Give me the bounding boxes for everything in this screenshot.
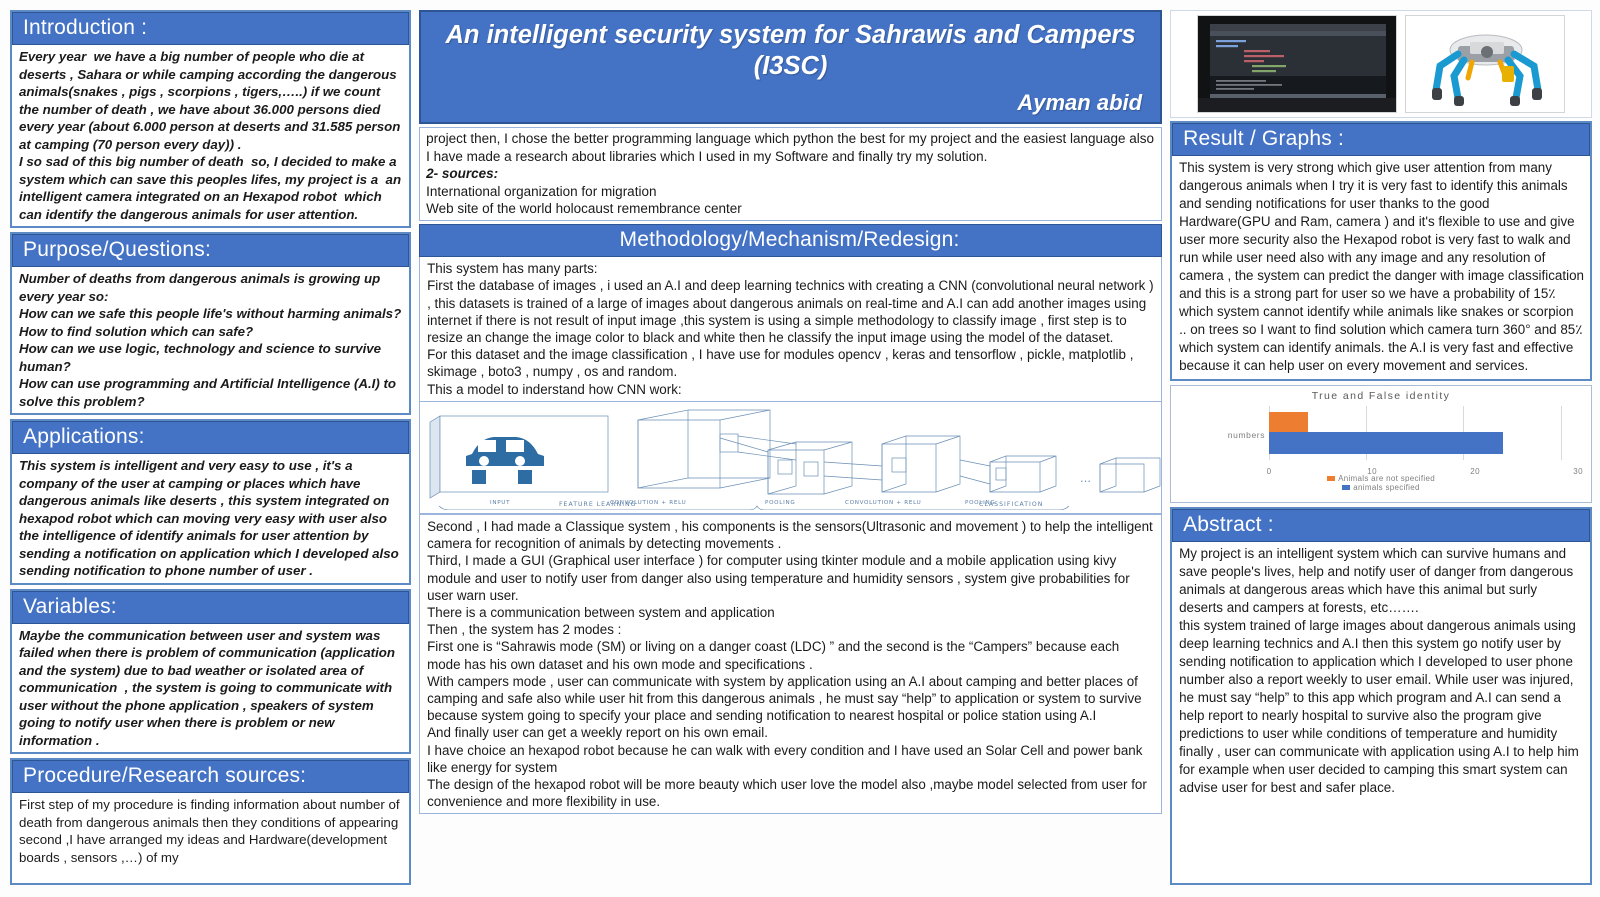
legend-swatch-blue — [1342, 485, 1350, 490]
xtick-30: 30 — [1573, 467, 1583, 476]
left-column: Introduction : Every year we have a big … — [10, 10, 411, 889]
methodology-bottom-text: Second , I had made a Classique system ,… — [419, 514, 1162, 814]
poster-title-block: An intelligent security system for Sahra… — [419, 10, 1162, 124]
chart-title: True and False identity — [1173, 390, 1589, 402]
abstract-heading: Abstract : — [1172, 509, 1590, 542]
xtick-0: 0 — [1267, 467, 1272, 476]
intro-continuation-box: project then, I chose the better program… — [419, 127, 1162, 221]
section-abstract: Abstract : My project is an intelligent … — [1170, 507, 1592, 885]
methodology-p2: First the database of images , i used an… — [427, 277, 1155, 346]
sources-label: 2- sources: — [426, 165, 1157, 183]
introduction-heading: Introduction : — [12, 12, 409, 45]
source-item-1: International organization for migration — [426, 183, 1157, 201]
cnn-group-classification: CLASSIFICATION — [979, 501, 1043, 508]
bottom-p9: The design of the hexapod robot will be … — [427, 776, 1156, 810]
bottom-p6: With campers mode , user can communicate… — [427, 673, 1156, 725]
gridline-30 — [1561, 406, 1562, 460]
source-item-2: Web site of the world holocaust remembra… — [426, 200, 1157, 218]
chart-legend: Animals are not specified animals specif… — [1173, 474, 1589, 492]
section-introduction: Introduction : Every year we have a big … — [10, 10, 411, 228]
methodology-heading: Methodology/Mechanism/Redesign: — [419, 224, 1162, 257]
applications-heading: Applications: — [12, 421, 409, 454]
result-body: This system is very strong which give us… — [1172, 156, 1590, 378]
methodology-p1: This system has many parts: — [427, 260, 1155, 277]
methodology-p3: For this dataset and the image classific… — [427, 346, 1155, 380]
legend-label-specified: animals specified — [1353, 483, 1419, 492]
middle-column: An intelligent security system for Sahra… — [419, 10, 1162, 889]
methodology-body: This system has many parts: First the da… — [420, 257, 1161, 401]
research-poster: Introduction : Every year we have a big … — [0, 0, 1600, 897]
bar-animals-specified — [1269, 432, 1503, 454]
methodology-p4: This a model to inderstand how CNN work: — [427, 381, 1155, 398]
bottom-p4: Then , the system has 2 modes : — [427, 621, 1156, 638]
applications-body: This system is intelligent and very easy… — [12, 454, 409, 582]
right-column: Result / Graphs : This system is very st… — [1170, 10, 1592, 889]
author-name: Ayman abid — [439, 90, 1142, 116]
chart-plot-area: numbers 0 10 20 30 — [1181, 404, 1581, 476]
section-purpose-questions: Purpose/Questions: Number of deaths from… — [10, 232, 411, 415]
photo-row — [1170, 10, 1592, 118]
introduction-body: Every year we have a big number of peopl… — [12, 45, 409, 226]
bottom-p1: Second , I had made a Classique system ,… — [427, 518, 1156, 552]
hexapod-robot-photo — [1405, 15, 1565, 113]
legend-item-specified: animals specified — [1342, 483, 1419, 492]
section-result-graphs: Result / Graphs : This system is very st… — [1170, 121, 1592, 381]
bottom-p7: And finally user can get a weekly report… — [427, 724, 1156, 741]
laptop-code-photo — [1197, 15, 1397, 113]
chart-category-label: numbers — [1199, 430, 1265, 440]
variables-heading: Variables: — [12, 591, 409, 624]
procedure-heading: Procedure/Research sources: — [12, 760, 409, 793]
cnn-group-feature-learning: FEATURE LEARNING — [559, 501, 636, 508]
xtick-20: 20 — [1470, 467, 1480, 476]
section-variables: Variables: Maybe the communication betwe… — [10, 589, 411, 755]
section-applications: Applications: This system is intelligent… — [10, 419, 411, 585]
bottom-p8: I have choice an hexapod robot because h… — [427, 742, 1156, 776]
true-false-identity-chart: True and False identity numbers 0 10 20 … — [1170, 385, 1592, 503]
purpose-heading: Purpose/Questions: — [12, 234, 409, 267]
page-title: An intelligent security system for Sahra… — [439, 20, 1142, 82]
bar-animals-not-specified — [1269, 412, 1308, 432]
bottom-p5: First one is “Sahrawis mode (SM) or livi… — [427, 638, 1156, 672]
bottom-p2: Third, I made a GUI (Graphical user inte… — [427, 552, 1156, 604]
result-heading: Result / Graphs : — [1172, 123, 1590, 156]
section-procedure-research-sources: Procedure/Research sources: First step o… — [10, 758, 411, 885]
legend-swatch-orange — [1327, 476, 1335, 481]
abstract-body: My project is an intelligent system whic… — [1172, 542, 1590, 800]
procedure-body: First step of my procedure is finding in… — [12, 793, 409, 869]
intro-continued-text: project then, I chose the better program… — [426, 130, 1157, 165]
xtick-10: 10 — [1367, 467, 1377, 476]
bottom-p3: There is a communication between system … — [427, 604, 1156, 621]
section-methodology: Methodology/Mechanism/Redesign: This sys… — [419, 224, 1162, 814]
chart-bars — [1269, 406, 1561, 460]
purpose-body: Number of deaths from dangerous animals … — [12, 267, 409, 413]
variables-body: Maybe the communication between user and… — [12, 624, 409, 752]
